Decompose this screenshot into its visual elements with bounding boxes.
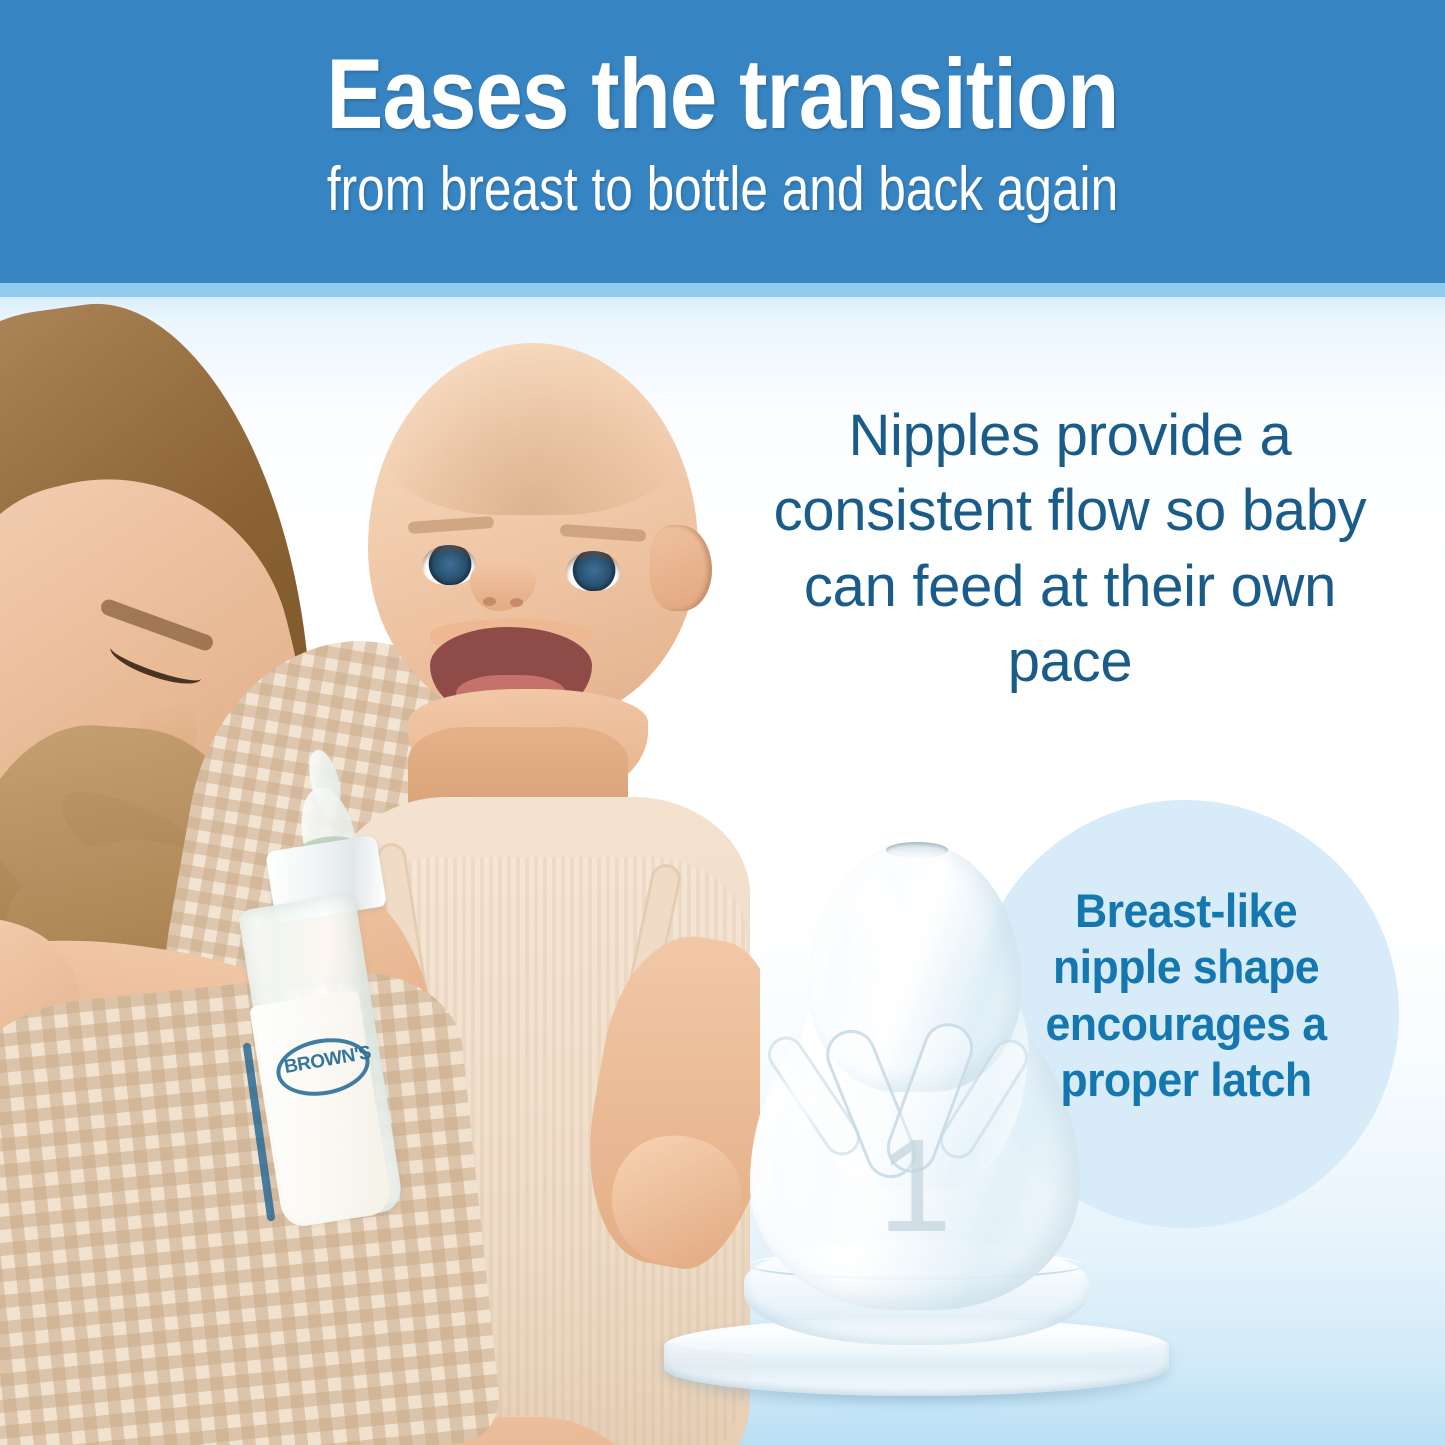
nipple-tip-opening <box>886 842 948 858</box>
nipple-highlight <box>846 872 904 1042</box>
baby-ear <box>650 525 712 611</box>
header-banner: Eases the transition from breast to bott… <box>0 0 1445 283</box>
mother-shirt <box>0 961 504 1445</box>
banner-underline <box>0 283 1445 297</box>
baby-nostril-right <box>510 598 523 607</box>
baby-nostril-left <box>483 597 496 606</box>
page-title: Eases the transition <box>101 44 1344 143</box>
feature-description: Nipples provide a consistent flow so bab… <box>760 398 1380 700</box>
page-subtitle: from breast to bottle and back again <box>145 159 1301 221</box>
callout-text: Breast-like nipple shape encourages a pr… <box>1029 883 1343 1109</box>
baby-eye-right <box>566 551 620 591</box>
baby-hair <box>380 345 680 515</box>
baby-eye-left <box>422 545 476 585</box>
lifestyle-photo: BROWN'S <box>0 297 760 1445</box>
flow-level-number: 1 <box>800 1120 1030 1252</box>
product-feature-image: BROWN'S 1 Nipples provide a consistent f… <box>0 0 1445 1445</box>
